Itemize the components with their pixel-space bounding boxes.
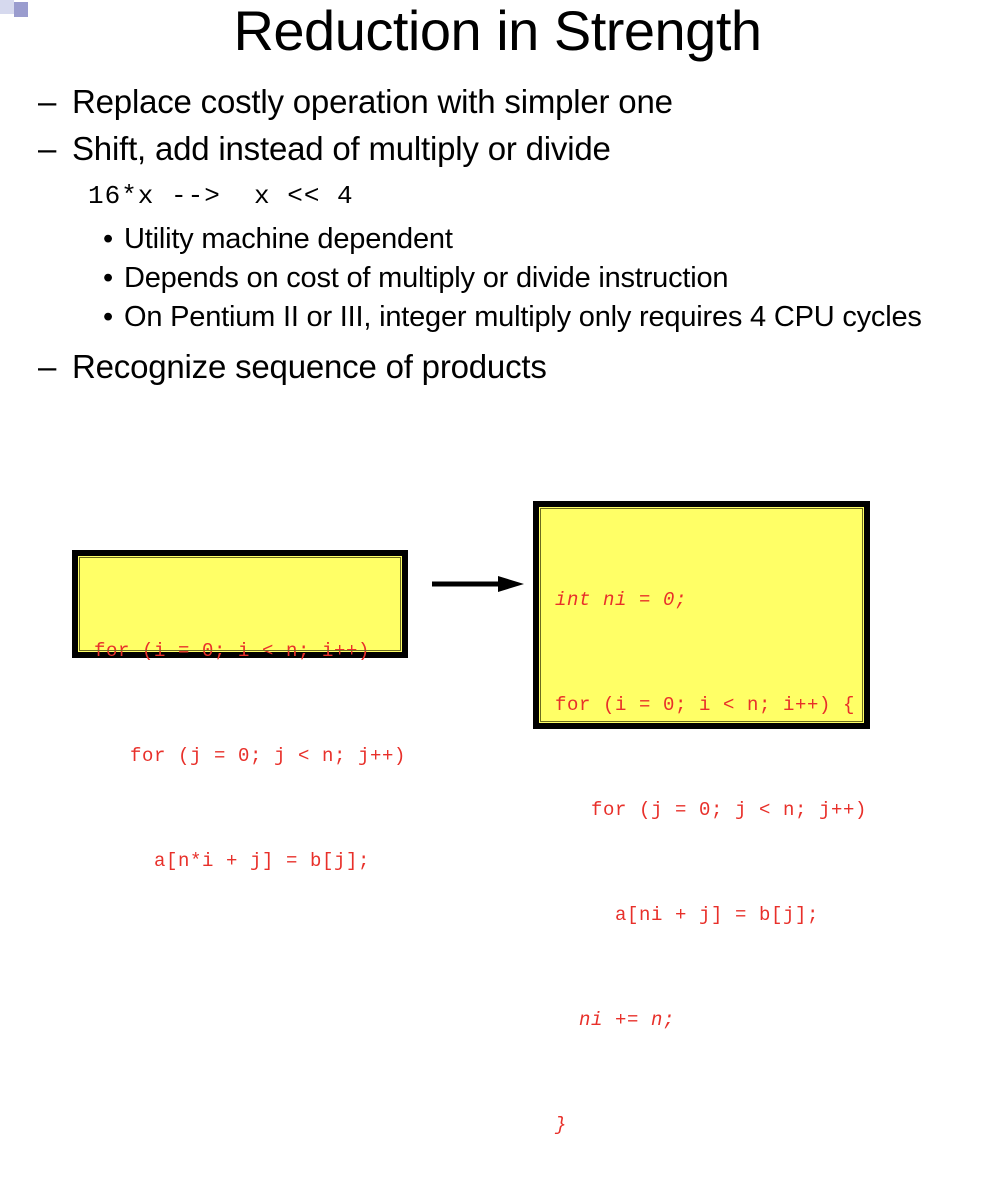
page-title: Reduction in Strength — [0, 0, 995, 64]
code-box-before: for (i = 0; i < n; i++) for (j = 0; j < … — [72, 550, 408, 658]
dash-bullet-icon: – — [38, 80, 56, 123]
spacer — [0, 337, 995, 345]
sub-bullet-item-1: • Utility machine dependent — [0, 220, 995, 258]
code-box-after: int ni = 0; for (i = 0; i < n; i++) { fo… — [533, 501, 870, 729]
bullet-item-3-label: Recognize sequence of products — [72, 348, 547, 385]
dot-bullet-icon: • — [103, 298, 113, 336]
code-line: ni += n; — [539, 1003, 864, 1038]
bullet-item-3: – Recognize sequence of products — [0, 345, 995, 388]
code-line: } — [539, 1108, 864, 1143]
dot-bullet-icon: • — [103, 220, 113, 258]
sub-bullet-item-3: • On Pentium II or III, integer multiply… — [0, 298, 995, 336]
code-line: for (i = 0; i < n; i++) { — [539, 688, 864, 723]
dash-bullet-icon: – — [38, 127, 56, 170]
sub-bullet-item-3-label: On Pentium II or III, integer multiply o… — [124, 301, 922, 333]
bullet-item-1: – Replace costly operation with simpler … — [0, 80, 995, 123]
code-line: a[n*i + j] = b[j]; — [78, 844, 402, 879]
code-line: int ni = 0; — [539, 583, 864, 618]
right-arrow-icon — [432, 574, 524, 594]
inline-code-snippet: 16*x --> x << 4 — [0, 174, 995, 218]
dot-bullet-icon: • — [103, 259, 113, 297]
code-line: for (i = 0; i < n; i++) — [78, 634, 402, 669]
code-line: a[ni + j] = b[j]; — [539, 898, 864, 933]
bullet-item-2-label: Shift, add instead of multiply or divide — [72, 130, 611, 167]
code-line: for (j = 0; j < n; j++) — [78, 739, 402, 774]
code-line: for (j = 0; j < n; j++) — [539, 793, 864, 828]
bullet-item-2: – Shift, add instead of multiply or divi… — [0, 127, 995, 170]
dash-bullet-icon: – — [38, 345, 56, 388]
slide-body: – Replace costly operation with simpler … — [0, 80, 995, 392]
sub-bullet-item-1-label: Utility machine dependent — [124, 223, 453, 255]
sub-bullet-item-2-label: Depends on cost of multiply or divide in… — [124, 262, 728, 294]
bullet-item-1-label: Replace costly operation with simpler on… — [72, 83, 673, 120]
sub-bullet-item-2: • Depends on cost of multiply or divide … — [0, 259, 995, 297]
